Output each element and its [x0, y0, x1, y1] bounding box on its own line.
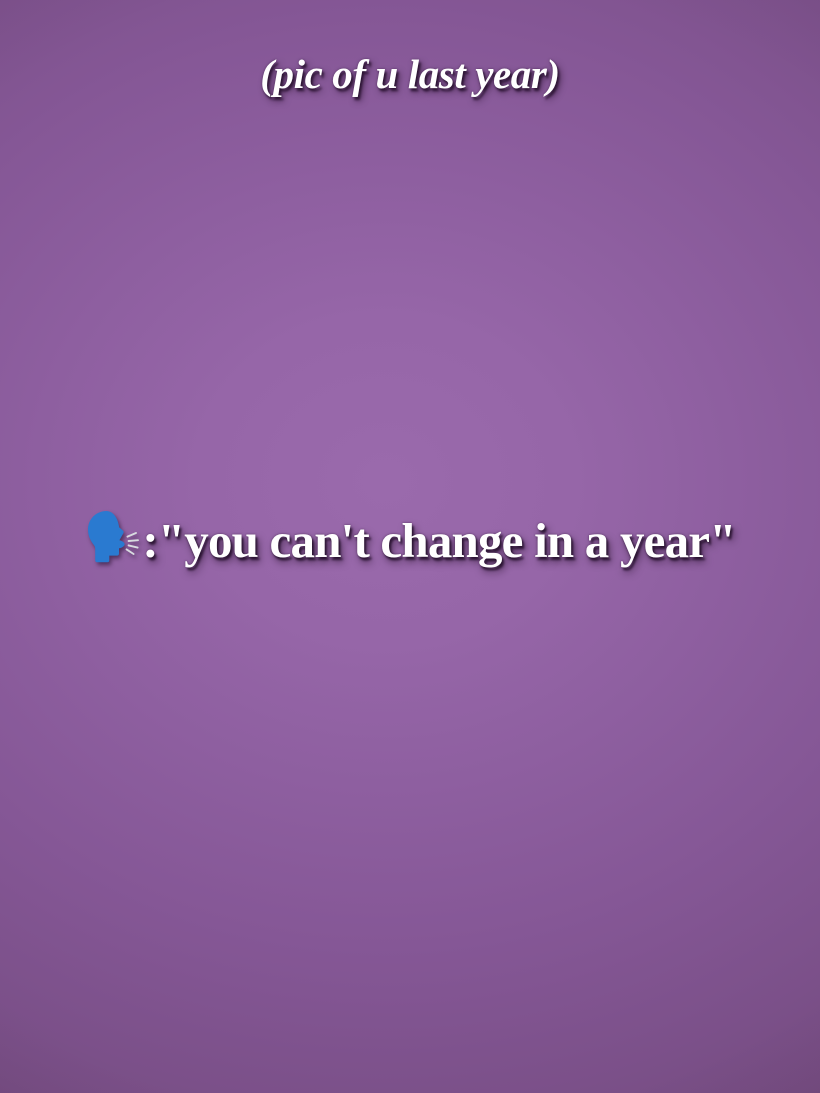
speaking-head-icon: [84, 508, 142, 570]
main-quote-text: :"you can't change in a year": [142, 515, 735, 566]
top-caption-text: (pic of u last year): [0, 52, 820, 98]
meme-canvas: (pic of u last year) :"you can't change …: [0, 0, 820, 1093]
main-quote-line: :"you can't change in a year": [0, 510, 820, 572]
